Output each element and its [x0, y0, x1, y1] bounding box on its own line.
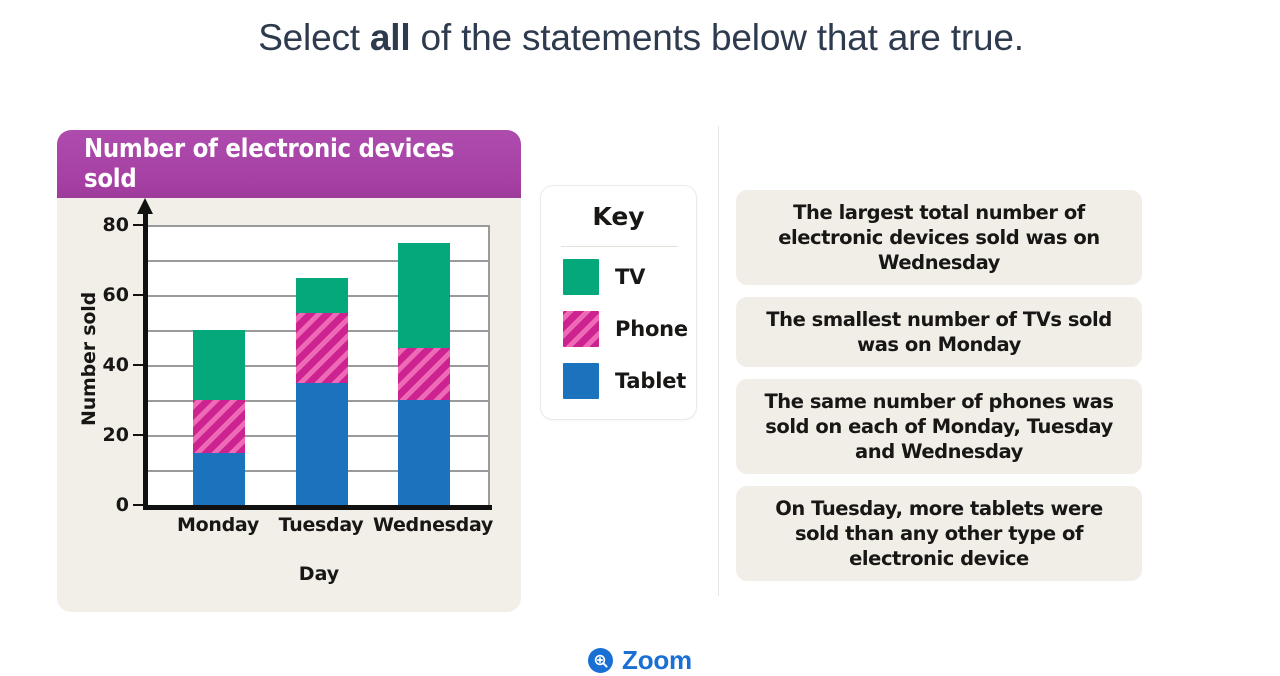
- bar-segment-monday-phone: [193, 400, 245, 453]
- bar-segment-monday-tablet: [193, 453, 245, 506]
- statement-option-3-text: The same number of phones was sold on ea…: [752, 389, 1126, 464]
- y-tick-label-0: 0: [59, 494, 129, 516]
- zoom-button-label: Zoom: [622, 645, 692, 676]
- y-tick-40: [133, 364, 144, 366]
- bar-segment-tuesday-tablet: [296, 383, 348, 506]
- legend-swatch-tv: [563, 259, 599, 295]
- chart-title-bar: Number of electronic devices sold: [57, 130, 521, 198]
- zoom-in-circle-icon: [588, 648, 613, 673]
- bar-segment-wednesday-phone: [398, 348, 450, 401]
- y-tick-label-80: 80: [59, 214, 129, 236]
- plot-area: [148, 225, 490, 505]
- legend-label-phone: Phone: [615, 317, 688, 341]
- statement-options-list: The largest total number of electronic d…: [736, 190, 1142, 593]
- statement-option-2-text: The smallest number of TVs sold was on M…: [752, 307, 1126, 357]
- statement-option-3[interactable]: The same number of phones was sold on ea…: [736, 379, 1142, 474]
- statement-option-4[interactable]: On Tuesday, more tablets were sold than …: [736, 486, 1142, 581]
- legend-label-tv: TV: [615, 265, 645, 289]
- bar-segment-tuesday-tv: [296, 278, 348, 313]
- y-tick-60: [133, 294, 144, 296]
- page-title: Select all of the statements below that …: [0, 14, 1280, 62]
- y-axis-line: [143, 211, 148, 507]
- zoom-button[interactable]: Zoom: [0, 645, 1280, 676]
- y-tick-0: [133, 504, 144, 506]
- page-title-emphasis: all: [370, 17, 411, 58]
- y-tick-label-20: 20: [59, 424, 129, 446]
- statement-option-2[interactable]: The smallest number of TVs sold was on M…: [736, 297, 1142, 367]
- legend-divider: [561, 246, 678, 247]
- x-axis-label: Day: [148, 563, 490, 585]
- panel-divider: [718, 126, 719, 596]
- stimulus-area: Number of electronic devices sold Number…: [0, 110, 1280, 610]
- x-tick-label-tuesday: Tuesday: [266, 514, 376, 536]
- bar-stack-monday: [193, 330, 245, 505]
- y-tick-label-40: 40: [59, 354, 129, 376]
- bar-stack-wednesday: [398, 243, 450, 506]
- y-axis-arrow-icon: [137, 198, 153, 214]
- chart-card: Number of electronic devices sold Number…: [57, 130, 521, 612]
- x-tick-label-monday: Monday: [163, 514, 273, 536]
- chart-legend: Key TV Phone Tablet: [540, 185, 697, 420]
- page-title-before: Select: [258, 17, 370, 58]
- legend-swatch-phone: [563, 311, 599, 347]
- x-tick-label-wednesday: Wednesday: [368, 514, 498, 536]
- chart-title: Number of electronic devices sold: [84, 134, 469, 194]
- statement-option-1-text: The largest total number of electronic d…: [752, 200, 1126, 275]
- statement-option-4-text: On Tuesday, more tablets were sold than …: [752, 496, 1126, 571]
- bar-segment-wednesday-tablet: [398, 400, 450, 505]
- x-axis-line: [143, 505, 492, 510]
- legend-title: Key: [541, 202, 696, 231]
- chart-plot-wrapper: Number sold: [57, 198, 521, 612]
- y-tick-20: [133, 434, 144, 436]
- bar-segment-monday-tv: [193, 330, 245, 400]
- y-tick-80: [133, 224, 144, 226]
- legend-item-tablet: Tablet: [563, 362, 693, 400]
- legend-item-tv: TV: [563, 258, 693, 296]
- statement-option-1[interactable]: The largest total number of electronic d…: [736, 190, 1142, 285]
- y-tick-label-60: 60: [59, 284, 129, 306]
- legend-swatch-tablet: [563, 363, 599, 399]
- bar-stack-tuesday: [296, 278, 348, 506]
- bar-segment-tuesday-phone: [296, 313, 348, 383]
- legend-label-tablet: Tablet: [615, 369, 686, 393]
- page-title-after: of the statements below that are true.: [410, 17, 1023, 58]
- legend-item-phone: Phone: [563, 310, 693, 348]
- bar-segment-wednesday-tv: [398, 243, 450, 348]
